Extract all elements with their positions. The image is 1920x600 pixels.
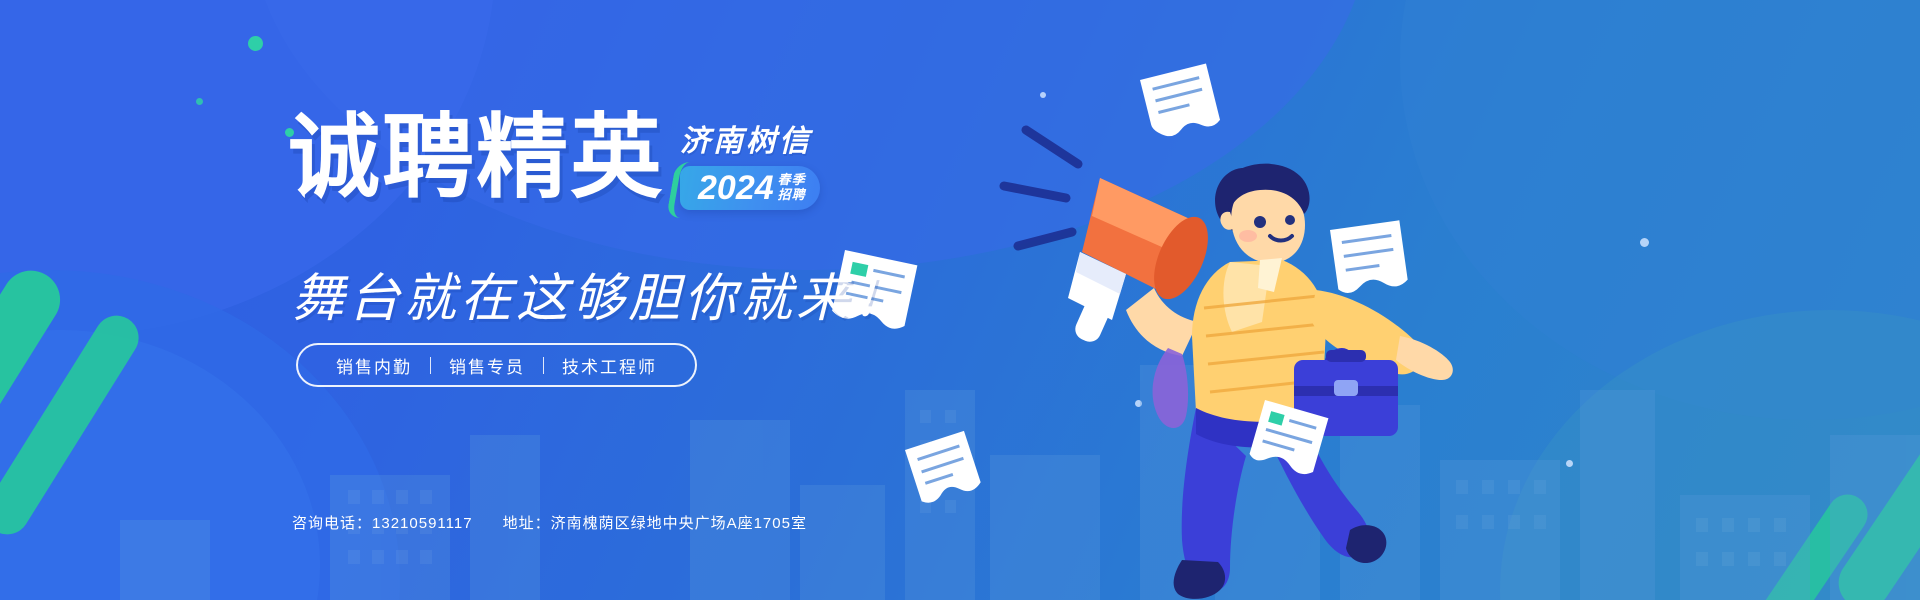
character-head <box>1215 164 1310 263</box>
badge-subtext-line2: 招聘 <box>778 188 806 203</box>
phone-number[interactable]: 13210591117 <box>372 515 473 532</box>
recruiter-character-illustration <box>930 60 1570 600</box>
page-title: 诚聘精英 <box>288 112 664 204</box>
address-label: 地址： <box>503 515 551 532</box>
briefcase-icon <box>1294 350 1398 436</box>
badge-subtext-line1: 春季 <box>778 173 806 188</box>
subheadline: 舞台就在这够胆你就来！ <box>292 256 908 331</box>
phone-block: 咨询电话：13210591117 <box>292 512 473 533</box>
recruitment-season-badge: 2024 春季 招聘 <box>680 166 820 210</box>
address-value: 济南槐荫区绿地中央广场A座1705室 <box>551 515 807 532</box>
badge-group: 济南树信 2024 春季 招聘 <box>680 112 820 210</box>
company-name: 济南树信 <box>680 116 820 160</box>
white-dot-1 <box>1640 238 1649 247</box>
job-tag-sales-specialist[interactable]: 销售专员 <box>431 353 543 378</box>
banner-text-content: 诚聘精英 济南树信 2024 春季 招聘 舞台就在这够胆你就来！ 销售内勤 销售… <box>0 0 1000 600</box>
job-tags-pill: 销售内勤 销售专员 技术工程师 <box>296 343 697 387</box>
headline-row: 诚聘精英 济南树信 2024 春季 招聘 <box>288 112 820 210</box>
contact-info: 咨询电话：13210591117 地址：济南槐荫区绿地中央广场A座1705室 <box>292 512 807 533</box>
phone-label: 咨询电话： <box>292 515 372 532</box>
job-tag-technical-engineer[interactable]: 技术工程师 <box>544 353 675 378</box>
badge-subtext: 春季 招聘 <box>778 173 806 203</box>
badge-year: 2024 <box>698 171 774 205</box>
recruitment-banner: 诚聘精英 济南树信 2024 春季 招聘 舞台就在这够胆你就来！ 销售内勤 销售… <box>0 0 1920 600</box>
job-tag-sales-support[interactable]: 销售内勤 <box>318 353 430 378</box>
address-block: 地址：济南槐荫区绿地中央广场A座1705室 <box>503 512 807 533</box>
